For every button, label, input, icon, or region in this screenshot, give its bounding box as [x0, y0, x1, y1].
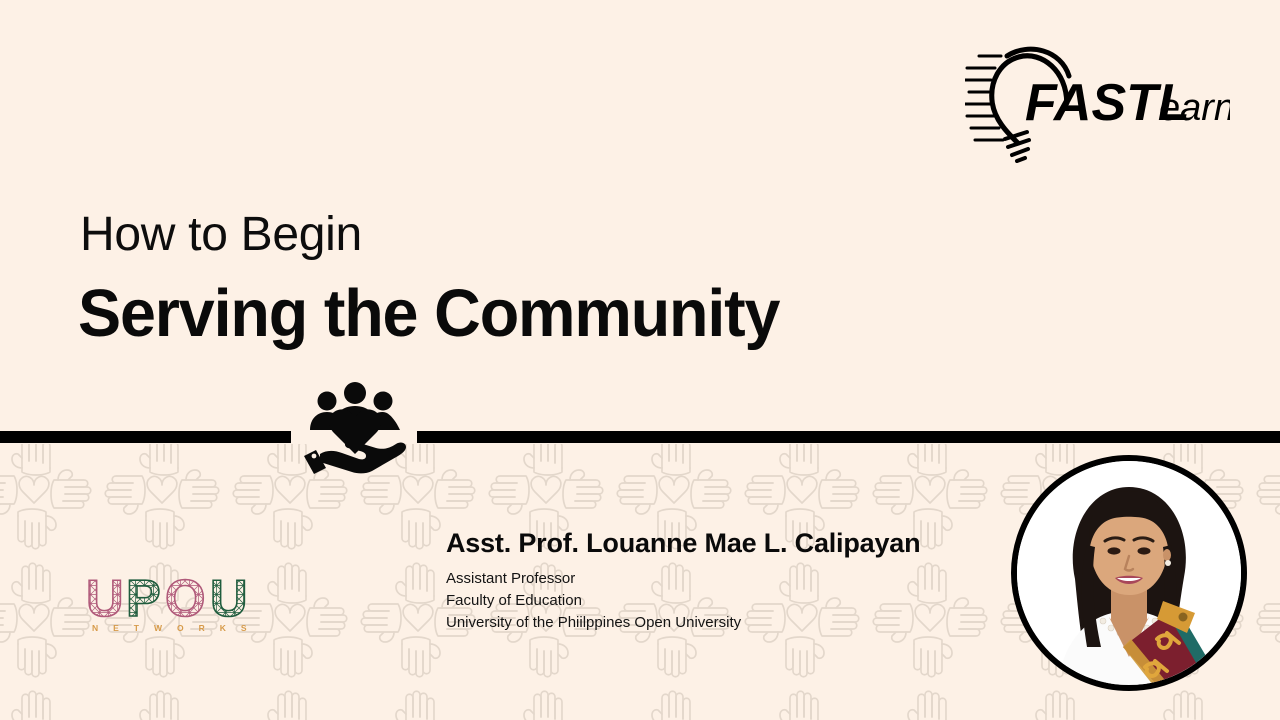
- upou-networks-logo: U P O U NETWORKS: [86, 572, 278, 638]
- upou-letter-u1: U: [86, 572, 124, 628]
- divider-rule-right: [417, 431, 1280, 443]
- presenter-portrait: [1011, 455, 1247, 691]
- slide-headline: Serving the Community: [78, 278, 779, 350]
- presenter-line-title: Assistant Professor: [446, 568, 1006, 590]
- slide-kicker: How to Begin: [80, 208, 362, 262]
- upou-letter-p: P: [126, 572, 161, 628]
- upou-letter-u2: U: [210, 572, 248, 628]
- fastlearn-logo: FASTL earn: [965, 38, 1230, 163]
- presenter-line-faculty: Faculty of Education: [446, 590, 1006, 612]
- upou-subtitle: NETWORKS: [92, 623, 262, 633]
- presenter-block: Asst. Prof. Louanne Mae L. Calipayan Ass…: [446, 528, 1006, 634]
- fastlearn-light-text: earn: [1159, 87, 1230, 129]
- presenter-line-university: University of the Phiilppines Open Unive…: [446, 612, 1006, 634]
- presenter-name: Asst. Prof. Louanne Mae L. Calipayan: [446, 528, 1006, 559]
- hand-holding-heart-people-icon: [296, 382, 414, 474]
- divider-rule-left: [0, 431, 291, 443]
- upou-letter-o: O: [165, 572, 205, 628]
- presenter-affiliation: Assistant Professor Faculty of Education…: [446, 568, 1006, 634]
- presentation-slide: FASTL earn How to Begin Serving the Comm…: [0, 0, 1280, 720]
